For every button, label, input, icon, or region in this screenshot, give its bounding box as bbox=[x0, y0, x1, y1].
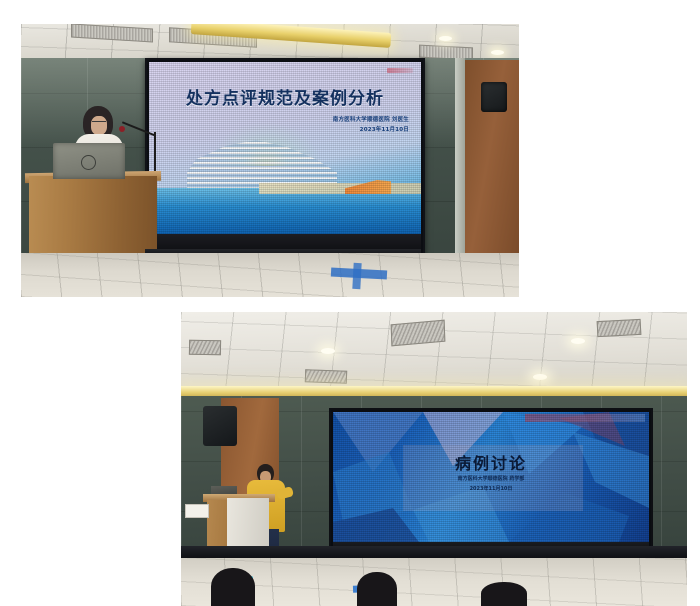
downlight-icon bbox=[491, 50, 504, 55]
audience-head bbox=[481, 582, 527, 606]
photo-lecture-presenter-female: 处方点评规范及案例分析 南方医科大学顺德医院 刘医生 2023年11月10日 bbox=[21, 24, 519, 297]
led-screen: 病例讨论 南方医科大学顺德医院 药学部 2023年11月10日 bbox=[329, 408, 653, 560]
floor-tile-grid bbox=[181, 558, 687, 606]
floor bbox=[21, 253, 519, 297]
led-screen: 处方点评规范及案例分析 南方医科大学顺德医院 刘医生 2023年11月10日 bbox=[145, 58, 425, 262]
slide-surface: 处方点评规范及案例分析 南方医科大学顺德医院 刘医生 2023年11月10日 bbox=[149, 62, 421, 234]
wall-speaker-icon bbox=[203, 406, 237, 446]
wall-speaker-icon bbox=[481, 82, 507, 112]
podium-sign bbox=[185, 504, 209, 518]
downlight-icon bbox=[439, 36, 452, 41]
ceiling-vent-icon bbox=[391, 320, 446, 347]
led-pixel-mesh bbox=[333, 412, 649, 542]
downlight-icon bbox=[533, 374, 547, 380]
downlight-icon bbox=[571, 338, 585, 344]
ceiling-vent-icon bbox=[305, 369, 347, 383]
downlight-icon bbox=[321, 348, 335, 354]
floor-tile-grid bbox=[21, 253, 519, 297]
microphone-icon bbox=[119, 126, 125, 132]
laptop bbox=[53, 143, 125, 179]
slide-subtitle-date: 2023年11月10日 bbox=[333, 125, 409, 135]
slide-surface: 病例讨论 南方医科大学顺德医院 药学部 2023年11月10日 bbox=[333, 412, 649, 542]
ceiling-vent-icon bbox=[189, 340, 221, 356]
slide-title: 处方点评规范及案例分析 bbox=[149, 84, 421, 109]
floor-blue-reflection bbox=[352, 263, 361, 289]
photo-lecture-presenter-male: 病例讨论 南方医科大学顺德医院 药学部 2023年11月10日 bbox=[181, 312, 687, 606]
audience-head bbox=[211, 568, 255, 606]
slide-subtitle: 南方医科大学顺德医院 刘医生 2023年11月10日 bbox=[333, 115, 409, 136]
wall-column bbox=[455, 58, 465, 258]
hospital-logo-icon bbox=[387, 68, 413, 73]
slide-subtitle-org: 南方医科大学顺德医院 刘医生 bbox=[333, 115, 409, 125]
hp-logo-icon bbox=[81, 155, 96, 170]
audience-head bbox=[357, 572, 397, 606]
ceiling-vent-icon bbox=[597, 319, 642, 337]
glasses-icon bbox=[92, 121, 106, 125]
presenter-face bbox=[91, 116, 107, 135]
floor bbox=[181, 558, 687, 606]
